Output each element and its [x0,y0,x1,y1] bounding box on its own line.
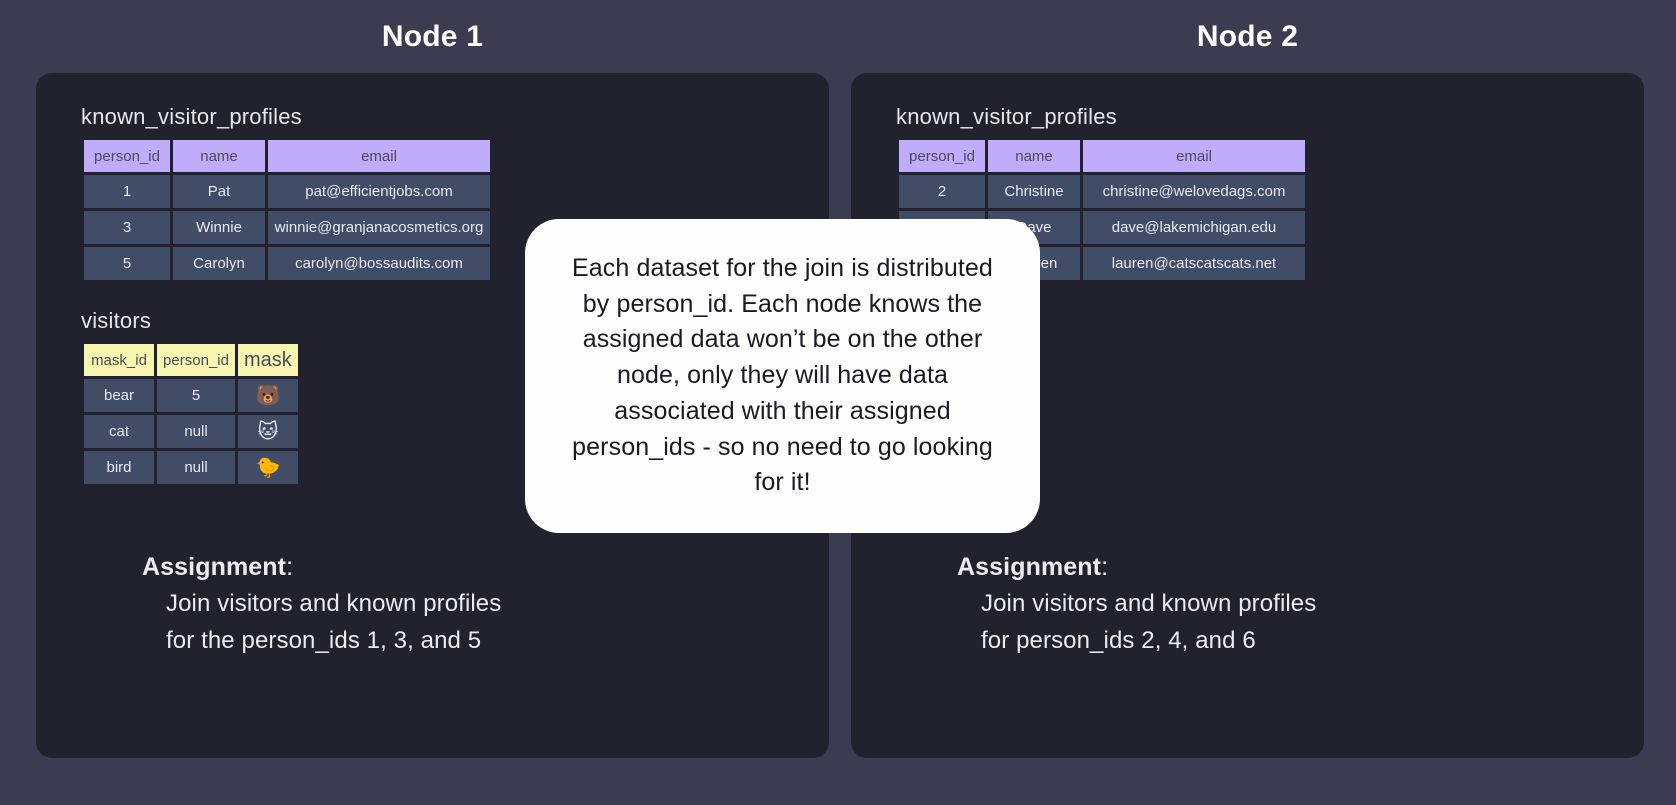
node-1-visitors-table-block: visitors mask_id person_id mask bear 5 🐻 [81,308,301,487]
cell-person-id: 1 [84,175,170,208]
table-row: 5 Carolyn carolyn@bossaudits.com [84,247,490,280]
table-header-row: mask_id person_id mask [84,344,298,376]
column-header-name: name [173,140,265,172]
explanation-callout-bubble: Each dataset for the join is distributed… [525,219,1040,533]
node-1-profiles-caption: known_visitor_profiles [81,104,493,130]
column-header-mask: mask [238,344,298,376]
explanation-callout-text: Each dataset for the join is distributed… [559,251,1006,501]
cell-person-id: 3 [84,211,170,244]
node-2-assignment-colon: : [1101,553,1108,581]
node-1-visitors-table: mask_id person_id mask bear 5 🐻 cat null [81,341,301,487]
cell-email: winnie@granjanacosmetics.org [268,211,490,244]
slide-canvas: Node 1 known_visitor_profiles person_id … [0,0,1676,805]
column-header-name: name [988,140,1080,172]
cell-person-id: 5 [157,379,235,412]
cell-person-id: 2 [899,175,985,208]
node-1-known-visitor-profiles-table-block: known_visitor_profiles person_id name em… [81,104,493,283]
cell-email: christine@welovedags.com [1083,175,1305,208]
table-header-row: person_id name email [899,140,1305,172]
cell-person-id: null [157,415,235,448]
column-header-person-id: person_id [84,140,170,172]
bear-face-icon: 🐻 [238,379,298,412]
column-header-person-id: person_id [899,140,985,172]
node-1-assignment-label: Assignment [142,553,286,581]
node-1-assignment: Assignment: Join visitors and known prof… [142,548,501,659]
cell-name: Carolyn [173,247,265,280]
cell-name: Winnie [173,211,265,244]
table-row: 3 Winnie winnie@granjanacosmetics.org [84,211,490,244]
table-row: bird null 🐤 [84,451,298,484]
column-header-email: email [1083,140,1305,172]
cell-name: Christine [988,175,1080,208]
node-2-assignment-label: Assignment [957,553,1101,581]
cell-mask-id: bird [84,451,154,484]
node-1-title: Node 1 [36,20,829,54]
node-2-assignment-line-1: Join visitors and known profiles [957,586,1316,622]
table-header-row: person_id name email [84,140,490,172]
column-header-mask-id: mask_id [84,344,154,376]
cell-person-id: null [157,451,235,484]
table-row: bear 5 🐻 [84,379,298,412]
node-1-profiles-table: person_id name email 1 Pat pat@efficient… [81,137,493,283]
table-row: 1 Pat pat@efficientjobs.com [84,175,490,208]
column-header-person-id: person_id [157,344,235,376]
table-row: 2 Christine christine@welovedags.com [899,175,1305,208]
cat-face-icon: 🐱 [238,415,298,448]
node-2-title: Node 2 [851,20,1644,54]
cell-mask-id: cat [84,415,154,448]
node-2-profiles-caption: known_visitor_profiles [896,104,1308,130]
node-1-visitors-caption: visitors [81,308,301,334]
cell-email: pat@efficientjobs.com [268,175,490,208]
cell-email: lauren@catscatscats.net [1083,247,1305,280]
cell-mask-id: bear [84,379,154,412]
cell-email: dave@lakemichigan.edu [1083,211,1305,244]
node-2-assignment: Assignment: Join visitors and known prof… [957,548,1316,659]
cell-email: carolyn@bossaudits.com [268,247,490,280]
node-1-assignment-line-2: for the person_ids 1, 3, and 5 [142,623,501,659]
bird-face-icon: 🐤 [238,451,298,484]
node-1-assignment-colon: : [286,553,293,581]
cell-person-id: 5 [84,247,170,280]
node-2-assignment-line-2: for person_ids 2, 4, and 6 [957,623,1316,659]
node-1-assignment-line-1: Join visitors and known profiles [142,586,501,622]
cell-name: Pat [173,175,265,208]
column-header-email: email [268,140,490,172]
table-row: cat null 🐱 [84,415,298,448]
